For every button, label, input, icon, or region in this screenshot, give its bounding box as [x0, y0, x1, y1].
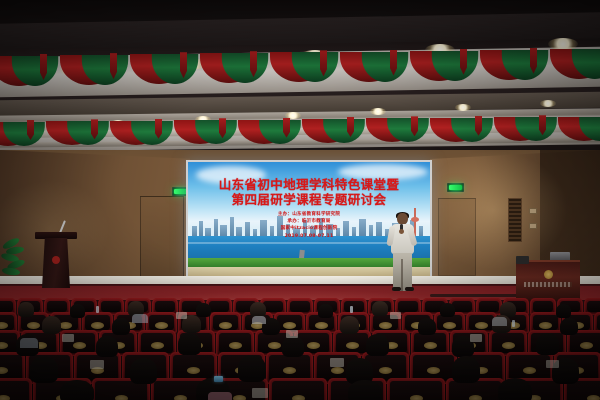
ceiling-swag-lower-2 — [46, 121, 98, 145]
audience-member — [238, 355, 266, 382]
seat-emblem — [523, 367, 536, 374]
audience-member — [366, 334, 389, 356]
audience-seat[interactable] — [0, 378, 32, 400]
presenter-trousers — [393, 253, 412, 291]
audience-handout — [252, 388, 268, 398]
audience-member — [556, 304, 571, 318]
seat-emblem — [315, 322, 328, 329]
ceiling-swag-lower-3 — [110, 121, 162, 145]
presenter — [388, 213, 418, 291]
audience-member — [318, 304, 333, 318]
ceiling-swag-upper-6 — [340, 52, 398, 82]
podium-emblem — [544, 270, 553, 279]
seat-cushion — [533, 301, 553, 312]
audience-handout — [286, 330, 298, 338]
seat-emblem — [187, 367, 200, 374]
ceiling-swag-upper-4 — [200, 53, 258, 83]
seat-emblem — [91, 322, 104, 329]
screen-title-line-1: 山东省初中地理学科特色课堂暨 — [188, 177, 430, 192]
seat-cushion — [0, 301, 13, 312]
ceiling-swag-lower-7 — [366, 118, 418, 142]
lectern-emblem — [52, 256, 60, 264]
audience-area — [0, 300, 600, 400]
audience-member — [348, 380, 382, 400]
seat-emblem — [443, 322, 456, 329]
exit-sign-icon-right — [447, 183, 464, 192]
seat-emblem — [379, 367, 392, 374]
lectern[interactable] — [35, 232, 77, 292]
audience-member — [112, 318, 130, 335]
lectern-top — [35, 232, 77, 239]
ceiling-swag-lower-6 — [302, 119, 354, 143]
podium-desk — [516, 260, 580, 300]
ceiling-swag-lower-4 — [174, 120, 226, 144]
seat-emblem — [427, 367, 440, 374]
audience-member — [340, 316, 359, 334]
seat-emblem — [469, 395, 482, 400]
podium-label-strip — [524, 282, 572, 287]
right-wall-door[interactable] — [438, 198, 476, 276]
seat-emblem — [174, 395, 187, 400]
audience-member — [372, 301, 388, 316]
ceiling-swag-upper-7 — [410, 51, 468, 81]
wall-vent — [508, 198, 522, 242]
audience-handout — [90, 360, 104, 369]
seat-emblem — [233, 395, 246, 400]
audience-shirt — [132, 314, 148, 323]
seat-emblem — [115, 395, 128, 400]
audience-shirt — [20, 338, 38, 348]
left-wall-door[interactable] — [140, 196, 184, 278]
audience-handout — [62, 334, 74, 342]
seat-emblem — [475, 322, 488, 329]
ceiling-swag-lower-9 — [494, 117, 546, 141]
audience-handout — [330, 358, 344, 367]
audience-handout — [176, 312, 187, 319]
ceiling-swag-lower-10 — [558, 117, 600, 141]
audience-member — [30, 356, 58, 383]
water-bottle — [350, 306, 353, 313]
seat-emblem — [151, 342, 164, 349]
seat-emblem — [331, 367, 344, 374]
audience-member — [282, 336, 304, 357]
screen-title-line-2: 第四届研学课程专题研讨会 — [188, 192, 430, 207]
audience-member — [250, 302, 266, 317]
audience-shirt — [208, 392, 232, 400]
seat-cushion — [155, 301, 175, 312]
seat-emblem — [580, 342, 593, 349]
ceiling-swag-lower-8 — [430, 118, 482, 142]
audience-member — [42, 316, 61, 334]
screen-title: 山东省初中地理学科特色课堂暨 第四届研学课程专题研讨会 — [188, 177, 430, 207]
auditorium-scene: 山东省初中地理学科特色课堂暨 第四届研学课程专题研讨会 主办：山东省教育科学研究… — [0, 0, 600, 400]
audience-member — [178, 333, 201, 355]
presenter-shoe-right — [405, 287, 414, 291]
ceiling-spotlight-7 — [540, 100, 556, 107]
seat-cushion — [452, 301, 472, 312]
seat-emblem — [283, 367, 296, 374]
audience-member — [96, 336, 118, 357]
seat-emblem — [539, 322, 552, 329]
seat-emblem — [155, 322, 168, 329]
ceiling-swag-upper-8 — [480, 50, 538, 80]
ceiling-swag-upper-5 — [270, 52, 328, 82]
seat-cushion — [587, 301, 600, 312]
water-bottle — [96, 306, 99, 313]
seat-emblem — [0, 395, 10, 400]
seat-cushion — [47, 301, 67, 312]
audience-handout — [470, 334, 482, 342]
water-bottle — [512, 320, 515, 327]
seat-cushion — [263, 301, 283, 312]
ceiling-swag-upper-2 — [60, 55, 118, 85]
seat-cushion — [344, 301, 364, 312]
audience-member — [498, 378, 532, 400]
audience-member — [18, 302, 34, 317]
seat-emblem — [27, 322, 40, 329]
audience-seat[interactable] — [269, 378, 327, 400]
ceiling-swag-upper-9 — [550, 49, 600, 79]
ceiling-spotlight-6 — [455, 104, 471, 111]
audience-member — [70, 304, 85, 318]
seat-emblem — [73, 342, 86, 349]
seat-emblem — [587, 395, 600, 400]
audience-handout — [390, 312, 401, 319]
seat-cushion — [101, 301, 121, 312]
audience-member — [418, 318, 436, 335]
audience-member — [130, 358, 157, 384]
wall-plate-lower — [529, 223, 537, 229]
wall-plate-upper — [529, 208, 537, 214]
seat-emblem — [229, 342, 242, 349]
seat-cushion — [209, 301, 229, 312]
audience-member — [560, 318, 578, 335]
seat-emblem — [292, 395, 305, 400]
presenter-hand — [399, 229, 404, 234]
ceiling-spotlight-5 — [370, 108, 386, 115]
audience-shirt — [492, 317, 507, 326]
audience-seat[interactable] — [387, 378, 445, 400]
ceiling — [0, 0, 600, 158]
seat-emblem — [268, 342, 281, 349]
seat-cushion — [398, 301, 418, 312]
seat-cushion — [479, 301, 499, 312]
seat-emblem — [410, 395, 423, 400]
seat-emblem — [283, 322, 296, 329]
seat-emblem — [379, 322, 392, 329]
floor-cable — [430, 294, 520, 297]
seat-emblem — [307, 342, 320, 349]
audience-member — [196, 303, 211, 317]
audience-phone-icon — [214, 376, 223, 382]
audience-member — [440, 303, 455, 317]
audience-member — [60, 380, 94, 400]
ceiling-swag-upper-3 — [130, 54, 188, 84]
podium-equipment-box — [516, 256, 529, 264]
audience-member — [452, 356, 480, 383]
ceiling-slab-upper — [0, 12, 600, 50]
presenter-shoe-left — [392, 287, 401, 291]
seat-emblem — [424, 342, 437, 349]
ceiling-swag-lower-5 — [238, 120, 290, 144]
seat-cushion — [290, 301, 310, 312]
audience-shirt — [252, 316, 266, 324]
seat-emblem — [219, 322, 232, 329]
audience-handout — [546, 360, 559, 368]
potted-plant — [0, 238, 34, 284]
seat-emblem — [502, 342, 515, 349]
seat-emblem — [346, 342, 359, 349]
audience-member — [536, 333, 559, 355]
